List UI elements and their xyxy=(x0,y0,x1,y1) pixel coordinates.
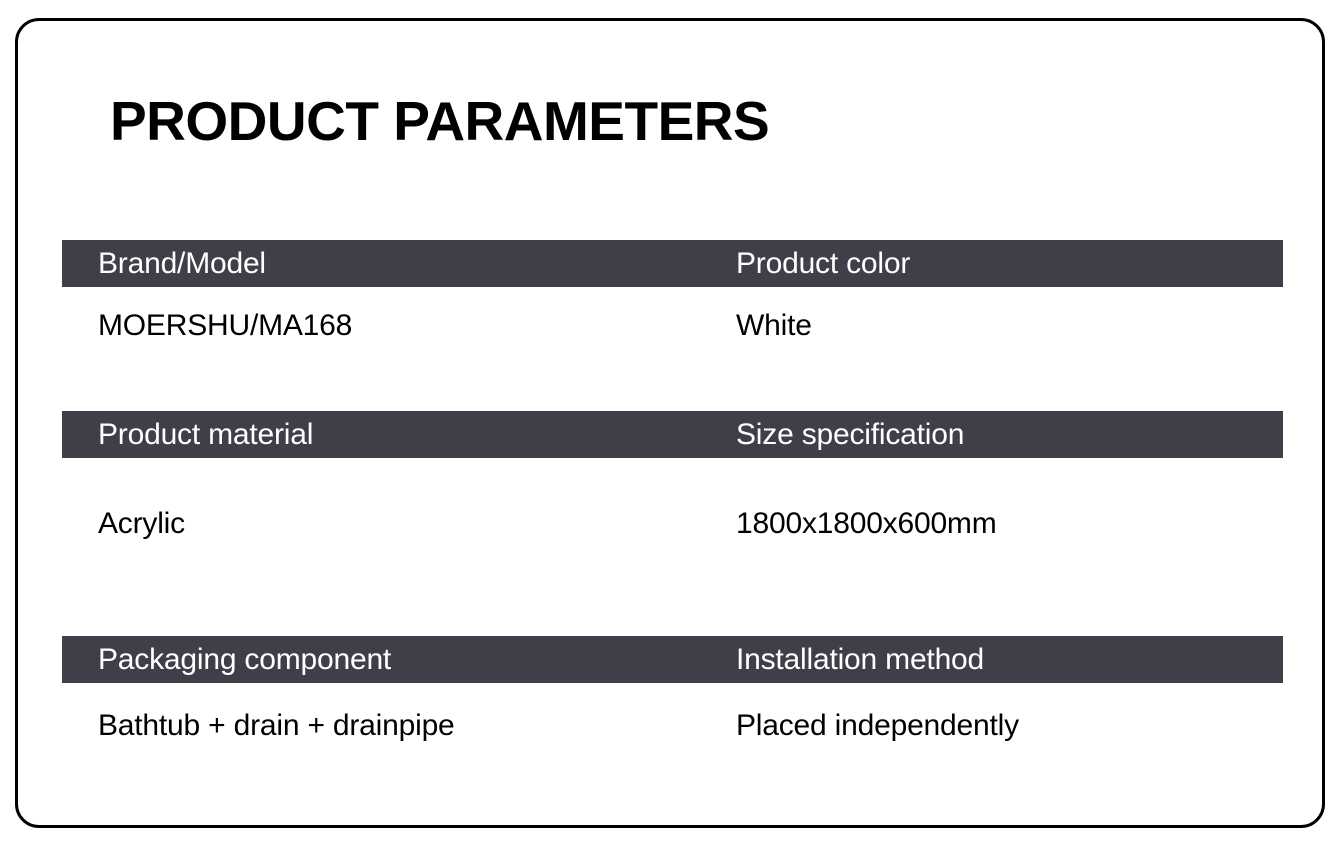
product-parameters-card: PRODUCT PARAMETERS Brand/Model Product c… xyxy=(0,0,1340,855)
parameters-table: Brand/Model Product color MOERSHU/MA168 … xyxy=(62,240,1283,769)
value-cell-size-specification: 1800x1800x600mm xyxy=(730,507,1283,541)
header-cell-size-specification: Size specification xyxy=(730,418,1283,452)
value-cell-packaging-component: Bathtub + drain + drainpipe xyxy=(62,709,730,743)
table-section: Brand/Model Product color MOERSHU/MA168 … xyxy=(62,240,1283,364)
header-cell-installation-method: Installation method xyxy=(730,643,1283,677)
table-value-row: Acrylic 1800x1800x600mm xyxy=(62,458,1283,589)
table-value-row: Bathtub + drain + drainpipe Placed indep… xyxy=(62,683,1283,769)
table-header-row: Brand/Model Product color xyxy=(62,240,1283,287)
table-value-row: MOERSHU/MA168 White xyxy=(62,287,1283,364)
page-title: PRODUCT PARAMETERS xyxy=(110,94,769,149)
table-header-row: Product material Size specification xyxy=(62,411,1283,458)
header-cell-brand-model: Brand/Model xyxy=(62,247,730,281)
value-cell-brand-model: MOERSHU/MA168 xyxy=(62,309,730,343)
value-cell-product-color: White xyxy=(730,309,1283,343)
table-header-row: Packaging component Installation method xyxy=(62,636,1283,683)
table-section: Packaging component Installation method … xyxy=(62,636,1283,769)
header-cell-product-material: Product material xyxy=(62,418,730,452)
value-cell-product-material: Acrylic xyxy=(62,507,730,541)
table-section: Product material Size specification Acry… xyxy=(62,411,1283,589)
header-cell-product-color: Product color xyxy=(730,247,1283,281)
header-cell-packaging-component: Packaging component xyxy=(62,643,730,677)
value-cell-installation-method: Placed independently xyxy=(730,709,1283,743)
